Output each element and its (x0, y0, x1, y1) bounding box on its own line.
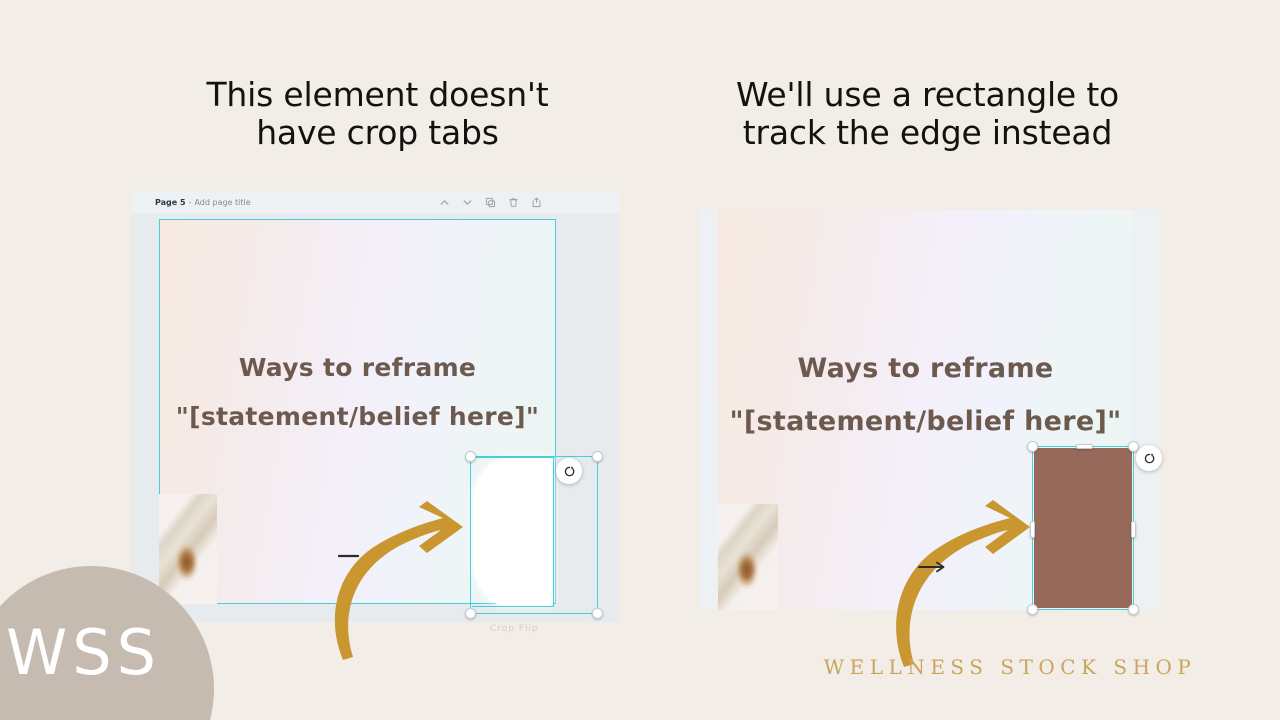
gold-curved-arrow-right (878, 495, 1048, 675)
slide-photo-element-left[interactable] (159, 494, 217, 604)
slide-headline-left-line2: "[statement/belief here]" (160, 393, 555, 442)
handle-right-center[interactable] (1131, 521, 1136, 538)
caption-right-line2: track the edge instead (700, 114, 1155, 152)
cursor-arrow-right (918, 561, 948, 573)
wss-initials: WSS (6, 622, 206, 684)
slide-headline-left: Ways to reframe "[statement/belief here]… (160, 344, 555, 442)
photo-image (159, 494, 217, 604)
cursor-line-left (338, 552, 360, 560)
caption-right: We'll use a rectangle to track the edge … (700, 76, 1155, 152)
handle-top-right[interactable] (592, 451, 603, 462)
brand-name: WELLNESS STOCK SHOP (790, 655, 1230, 679)
selection-box-left[interactable] (470, 456, 598, 614)
slide-headline-left-line1: Ways to reframe (160, 344, 555, 393)
slide-photo-element-right[interactable] (718, 504, 778, 610)
chevron-up-icon[interactable] (439, 197, 450, 208)
rotate-icon[interactable] (556, 458, 582, 484)
rotate-icon[interactable] (1136, 445, 1162, 471)
page-title-separator: - (189, 198, 192, 207)
clipped-toolbar-text: Crop Flip (490, 624, 610, 634)
add-page-icon[interactable] (531, 197, 542, 208)
caption-left: This element doesn't have crop tabs (150, 76, 605, 152)
handle-top-left[interactable] (465, 451, 476, 462)
handle-bottom-right[interactable] (592, 608, 603, 619)
photo-image (718, 504, 778, 610)
handle-top-left[interactable] (1027, 441, 1038, 452)
slide-headline-right-line2: "[statement/belief here]" (718, 396, 1133, 449)
caption-left-line2: have crop tabs (150, 114, 605, 152)
duplicate-icon[interactable] (485, 197, 496, 208)
trash-icon[interactable] (508, 197, 519, 208)
caption-right-line1: We'll use a rectangle to (700, 76, 1155, 114)
page-title-input[interactable]: Add page title (194, 198, 250, 207)
gold-curved-arrow-left (315, 497, 480, 667)
slide-headline-right: Ways to reframe "[statement/belief here]… (718, 343, 1133, 448)
page-toolbar-icons (439, 197, 610, 208)
caption-left-line1: This element doesn't (150, 76, 605, 114)
chevron-down-icon[interactable] (462, 197, 473, 208)
page-toolbar: Page 5 - Add page title (131, 191, 620, 213)
page-number-label: Page 5 (155, 198, 186, 207)
handle-top-center[interactable] (1076, 444, 1093, 449)
handle-bottom-right[interactable] (1128, 604, 1139, 615)
slide-headline-right-line1: Ways to reframe (718, 343, 1133, 396)
